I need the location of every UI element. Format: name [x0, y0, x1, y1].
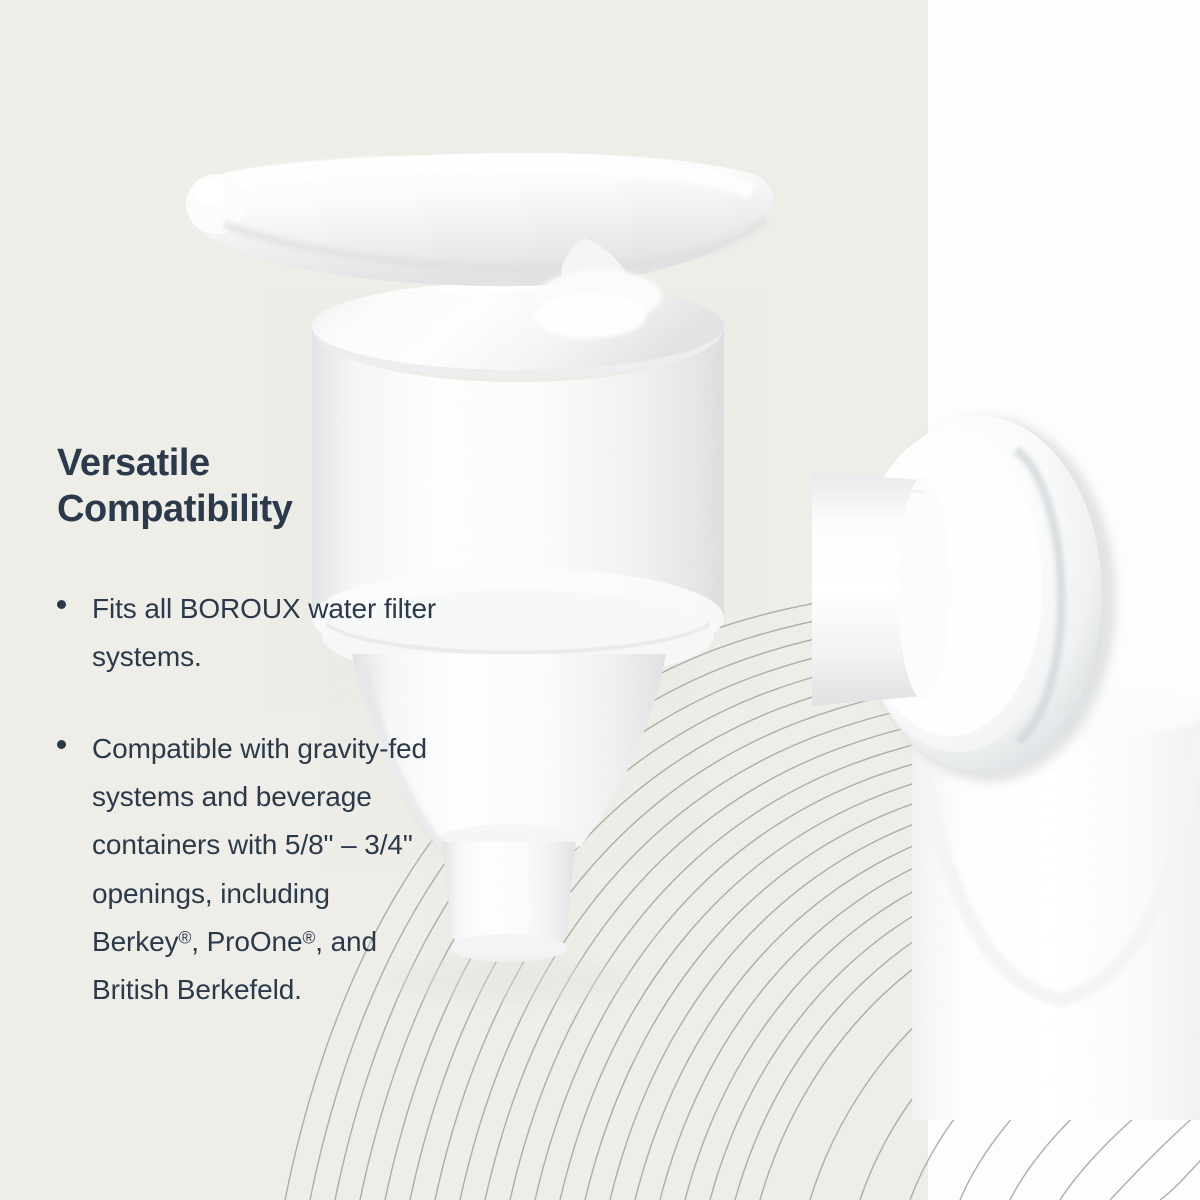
list-item-text-part-2: , ProOne — [191, 926, 302, 957]
specular-highlight — [534, 294, 646, 338]
list-item-text-part-1: Compatible with gravity-fed systems and … — [92, 733, 427, 957]
threaded-shaft — [812, 472, 950, 706]
list-item: Fits all BOROUX water filter systems. — [57, 585, 477, 681]
text-column: Versatile Compatibility Fits all BOROUX … — [57, 440, 477, 1014]
list-item: Compatible with gravity-fed systems and … — [57, 725, 477, 1014]
bullet-dot-icon — [57, 740, 66, 749]
promo-card: Versatile Compatibility Fits all BOROUX … — [0, 0, 1200, 1200]
bullet-dot-icon — [57, 600, 66, 609]
list-item-label: Fits all BOROUX water filter systems. — [92, 585, 444, 681]
page-title: Versatile Compatibility — [57, 440, 477, 533]
feature-list: Fits all BOROUX water filter systems. Co… — [57, 585, 477, 1014]
registered-mark-icon: ® — [303, 927, 316, 947]
list-item-label: Compatible with gravity-fed systems and … — [92, 725, 444, 1014]
registered-mark-icon: ® — [179, 927, 192, 947]
